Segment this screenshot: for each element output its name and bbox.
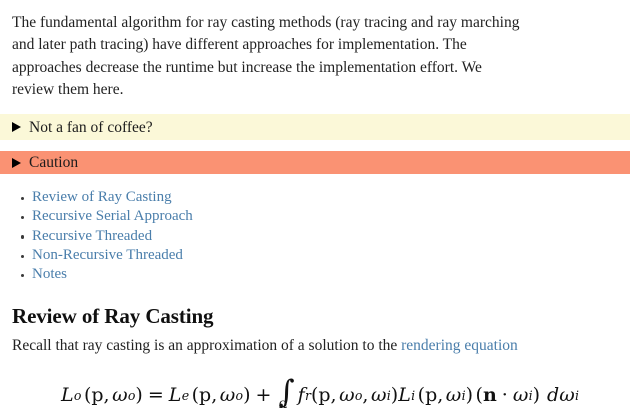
math-lparen: ( — [311, 384, 318, 406]
math-integral-group: ∫ Ω — [278, 380, 294, 411]
math-plus: + — [251, 384, 277, 406]
math-omega-i: ω — [513, 384, 529, 406]
math-omega-o: ω — [337, 384, 355, 406]
math-L-emitted: L — [169, 384, 182, 406]
page-title: Review of Ray Casting — [0, 285, 640, 329]
math-L-out: L — [61, 384, 74, 406]
triangle-right-icon — [12, 158, 21, 168]
math-rparen: ) — [533, 384, 540, 406]
math-dot-product: · — [497, 384, 513, 406]
math-omega-i: ω — [443, 384, 461, 406]
math-f: f — [298, 384, 305, 406]
rendering-equation-link[interactable]: rendering equation — [401, 337, 518, 354]
math-rparen: ) — [135, 384, 142, 406]
toc-link-notes[interactable]: Notes — [32, 266, 67, 282]
math-p: p — [318, 384, 330, 406]
toc-link-recursive-serial-approach[interactable]: Recursive Serial Approach — [32, 208, 193, 224]
math-L-incoming: L — [398, 384, 411, 406]
math-p: p — [199, 384, 211, 406]
math-sub-o: o — [235, 388, 243, 403]
math-lparen: ( — [81, 384, 91, 406]
math-lparen: ( — [189, 384, 199, 406]
math-omega-o: ω — [110, 384, 128, 406]
disclosure-caution[interactable]: Caution — [0, 151, 630, 174]
toc-link-non-recursive-threaded[interactable]: Non-Recursive Threaded — [32, 247, 183, 263]
list-item: Recursive Threaded — [0, 227, 640, 246]
disclosure-label: Not a fan of coffee? — [29, 118, 153, 137]
math-sub-i: i — [575, 388, 579, 403]
math-differential: d — [540, 384, 559, 406]
math-equals: = — [143, 384, 169, 406]
math-sub-o: o — [128, 388, 136, 403]
disclosure-not-a-fan-of-coffee[interactable]: Not a fan of coffee? — [0, 114, 630, 140]
table-of-contents: Review of Ray Casting Recursive Serial A… — [0, 174, 640, 284]
toc-link-recursive-threaded[interactable]: Recursive Threaded — [32, 228, 152, 244]
math-sub-o: o — [355, 388, 363, 403]
disclosure-group: Not a fan of coffee? Caution — [0, 114, 640, 174]
article-page: The fundamental algorithm for ray castin… — [0, 0, 640, 400]
list-item: Notes — [0, 265, 640, 284]
intro-paragraph: The fundamental algorithm for ray castin… — [0, 0, 640, 101]
list-item: Non-Recursive Threaded — [0, 246, 640, 265]
list-item: Review of Ray Casting — [0, 188, 640, 207]
math-expression: Lo(p,ωo) = Le(p,ωo) + ∫ Ω fr(p,ωo,ωi) Li… — [61, 380, 579, 411]
triangle-right-icon — [12, 122, 21, 132]
math-lparen: ( — [415, 384, 425, 406]
toc-link-review-of-ray-casting[interactable]: Review of Ray Casting — [32, 189, 172, 205]
math-omega-i: ω — [559, 384, 575, 406]
math-p: p — [425, 384, 437, 406]
math-omega-i: ω — [368, 384, 386, 406]
math-sub-o: o — [74, 388, 82, 403]
math-sub-e: e — [181, 388, 189, 403]
math-rparen: ) — [243, 384, 250, 406]
recall-paragraph: Recall that ray casting is an approximat… — [0, 329, 640, 356]
math-p: p — [91, 384, 103, 406]
math-integral-domain: Ω — [279, 401, 287, 411]
math-lparen: ( — [473, 384, 483, 406]
recall-text: Recall that ray casting is an approximat… — [12, 337, 401, 354]
disclosure-label: Caution — [29, 153, 78, 172]
list-item: Recursive Serial Approach — [0, 207, 640, 226]
math-rparen: ) — [466, 384, 473, 406]
rendering-equation-display: Lo(p,ωo) = Le(p,ωo) + ∫ Ω fr(p,ωo,ωi) Li… — [0, 356, 640, 411]
math-omega-o: ω — [217, 384, 235, 406]
math-normal-vector: n — [483, 384, 497, 406]
